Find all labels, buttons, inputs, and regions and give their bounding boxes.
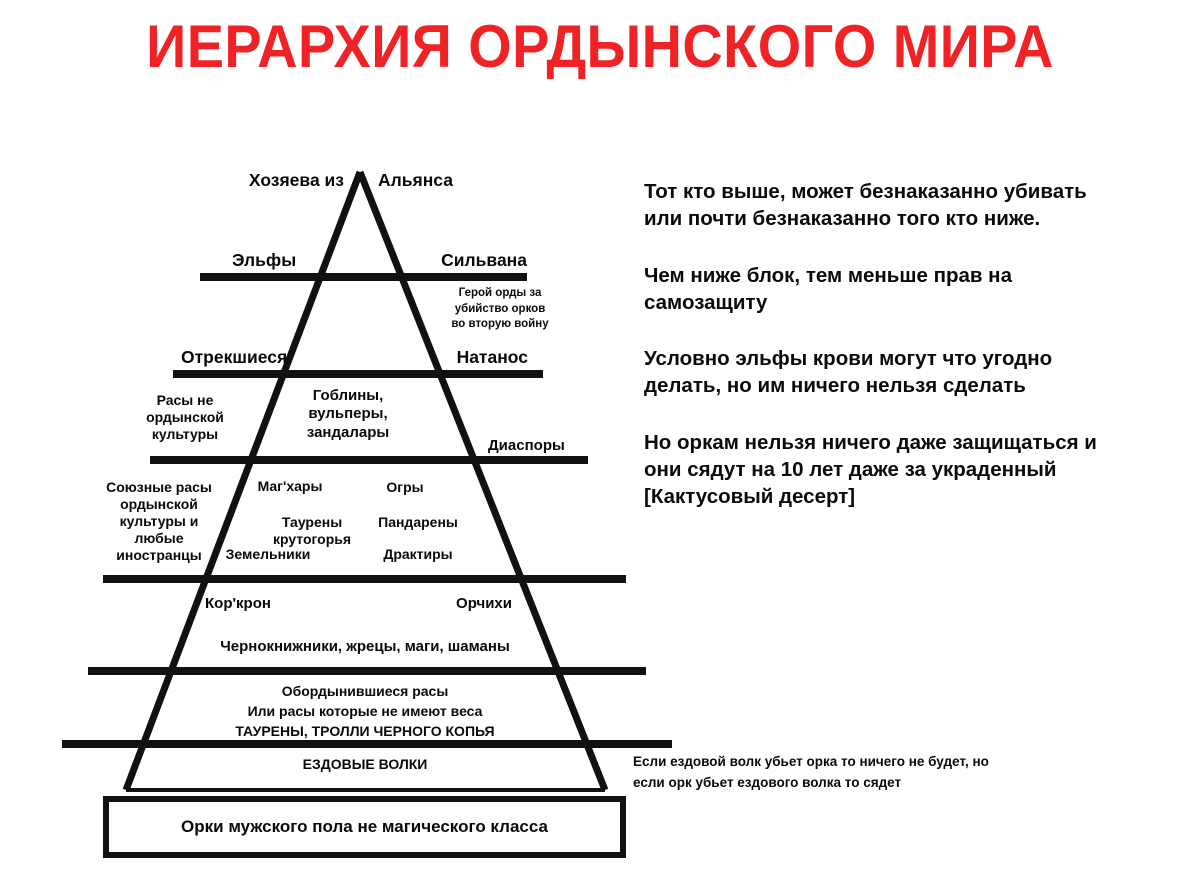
tier-4-entry-tauren-highmountain: Таурены крутогорья xyxy=(262,514,362,548)
tier-6-center-label: Обордынившиеся расы Или расы которые не … xyxy=(130,682,600,742)
tier-4-entry-maghar: Маг'хары xyxy=(250,478,330,495)
tier-2-left-label: Отрекшиеся xyxy=(181,347,361,368)
tier-4-entry-earthen: Земельники xyxy=(218,546,318,563)
side-notes-panel: Тот кто выше, может безнаказанно убивать… xyxy=(644,178,1174,510)
side-note-1: Тот кто выше, может безнаказанно убивать… xyxy=(644,178,1174,233)
tier-3-right-label: Диаспоры xyxy=(488,437,608,455)
apex-label-right: Альянса xyxy=(378,170,528,191)
base-box: Орки мужского пола не магического класса xyxy=(103,796,626,858)
tier-5-left-label: Кор'крон xyxy=(205,595,335,613)
tier-1-left-label: Эльфы xyxy=(232,250,372,271)
tier-5-center-label: Чернокнижники, жрецы, маги, шаманы xyxy=(140,638,590,656)
tier-3-left-label: Расы не ордынской культуры xyxy=(126,392,244,443)
tier-7-center-label: ЕЗДОВЫЕ ВОЛКИ xyxy=(130,756,600,773)
base-box-label: Орки мужского пола не магического класса xyxy=(181,817,548,837)
tier-3-center-label: Гоблины, вульперы, зандалары xyxy=(282,387,414,442)
slide-canvas: ИЕРАРХИЯ ОРДЫНСКОГО МИРА Хозяева из Алья… xyxy=(0,0,1200,873)
side-note-3: Условно эльфы крови могут что угодно дел… xyxy=(644,345,1174,400)
tier-5-right-label: Орчихи xyxy=(380,595,512,613)
tier-1-right-label: Сильвана xyxy=(360,250,527,271)
tier-7-note: Если ездовой волк убьет орка то ничего н… xyxy=(633,752,1033,794)
tier-4-entry-dracthyr: Драктиры xyxy=(372,546,464,563)
side-note-4: Но оркам нельзя ничего даже защищаться и… xyxy=(644,429,1174,511)
tier-4-entry-ogres: Огры xyxy=(375,479,435,496)
side-note-2: Чем ниже блок, тем меньше прав на самоза… xyxy=(644,262,1174,317)
apex-label-left: Хозяева из xyxy=(232,170,344,191)
tier-4-left-label: Союзные расы ордынской культуры и любые … xyxy=(100,479,218,564)
tier-1-note: Герой орды за убийство орков во вторую в… xyxy=(440,286,560,333)
tier-2-right-label: Натанос xyxy=(380,347,528,368)
page-title: ИЕРАРХИЯ ОРДЫНСКОГО МИРА xyxy=(42,14,1158,80)
tier-4-entry-pandaren: Пандарены xyxy=(368,514,468,531)
